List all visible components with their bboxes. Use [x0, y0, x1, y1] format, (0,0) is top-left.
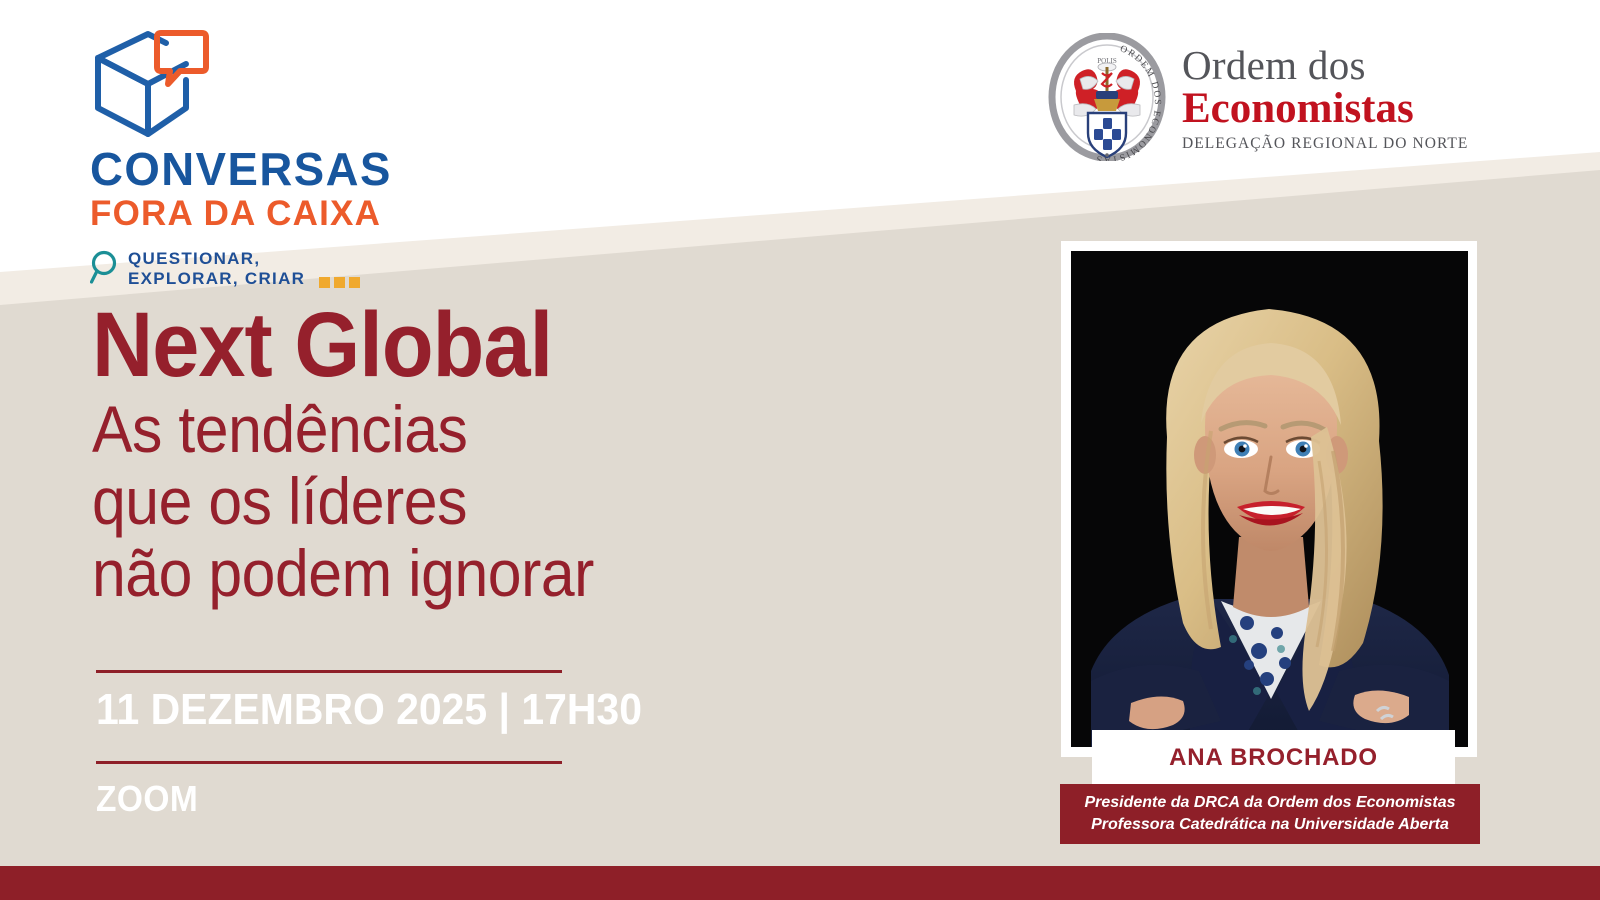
brand-tagline: QUESTIONAR, EXPLORAR, CRIAR — [90, 249, 450, 290]
divider-below-date — [96, 761, 562, 764]
speaker-name: ANA BROCHADO — [1169, 744, 1378, 772]
tagline-text: QUESTIONAR, EXPLORAR, CRIAR — [128, 249, 305, 290]
bottom-accent-bar — [0, 866, 1600, 900]
event-platform: ZOOM — [96, 781, 198, 817]
ordem-dos-economistas-crest-icon: ORDEM DOS ECONOMISTAS POLIS — [1046, 33, 1168, 161]
tagline-dots — [319, 277, 360, 288]
ordem-line-2: Economistas — [1182, 87, 1468, 131]
speaker-portrait-image — [1071, 251, 1468, 747]
tagline-line-2: EXPLORAR, CRIAR — [128, 269, 305, 290]
tagline-dot-2 — [334, 277, 345, 288]
ordem-wordmark: Ordem dos Economistas DELEGAÇÃO REGIONAL… — [1182, 41, 1468, 153]
tagline-dot-1 — [319, 277, 330, 288]
ordem-dos-economistas-logo: ORDEM DOS ECONOMISTAS POLIS — [1046, 33, 1468, 161]
brand-name-secondary: FORA DA CAIXA — [90, 196, 450, 233]
event-title: Next Global — [92, 300, 754, 390]
speaker-role-plate: Presidente da DRCA da Ordem dos Economis… — [1060, 784, 1480, 844]
conversas-brand-logo: CONVERSAS FORA DA CAIXA QUESTIONAR, EXPL… — [90, 24, 450, 290]
speaker-portrait — [1071, 251, 1468, 747]
event-headline-block: Next Global As tendências que os líderes… — [92, 300, 812, 610]
poster-canvas: CONVERSAS FORA DA CAIXA QUESTIONAR, EXPL… — [0, 0, 1600, 900]
speaker-name-plate: ANA BROCHADO — [1092, 730, 1455, 786]
ordem-line-1: Ordem dos — [1182, 45, 1468, 87]
divider-above-date — [96, 670, 562, 673]
event-subtitle: As tendências que os líderes não podem i… — [92, 394, 754, 610]
open-box-with-speech-bubble-icon — [90, 24, 210, 142]
brand-name-primary: CONVERSAS — [90, 146, 446, 192]
event-subtitle-line-1: As tendências — [92, 394, 754, 466]
tagline-line-1: QUESTIONAR, — [128, 249, 305, 270]
ordem-delegation-line: DELEGAÇÃO REGIONAL DO NORTE — [1182, 135, 1468, 153]
event-subtitle-line-2: que os líderes — [92, 466, 754, 538]
speaker-role-line-1: Presidente da DRCA da Ordem dos Economis… — [1084, 793, 1455, 813]
event-date-time: 11 DEZEMBRO 2025 | 17H30 — [96, 688, 642, 732]
event-subtitle-line-3: não podem ignorar — [92, 538, 754, 610]
speaker-role-line-2: Professora Catedrática na Universidade A… — [1091, 815, 1449, 835]
magnifier-icon — [90, 249, 120, 289]
tagline-dot-3 — [349, 277, 360, 288]
speaker-photo-frame — [1061, 241, 1477, 757]
